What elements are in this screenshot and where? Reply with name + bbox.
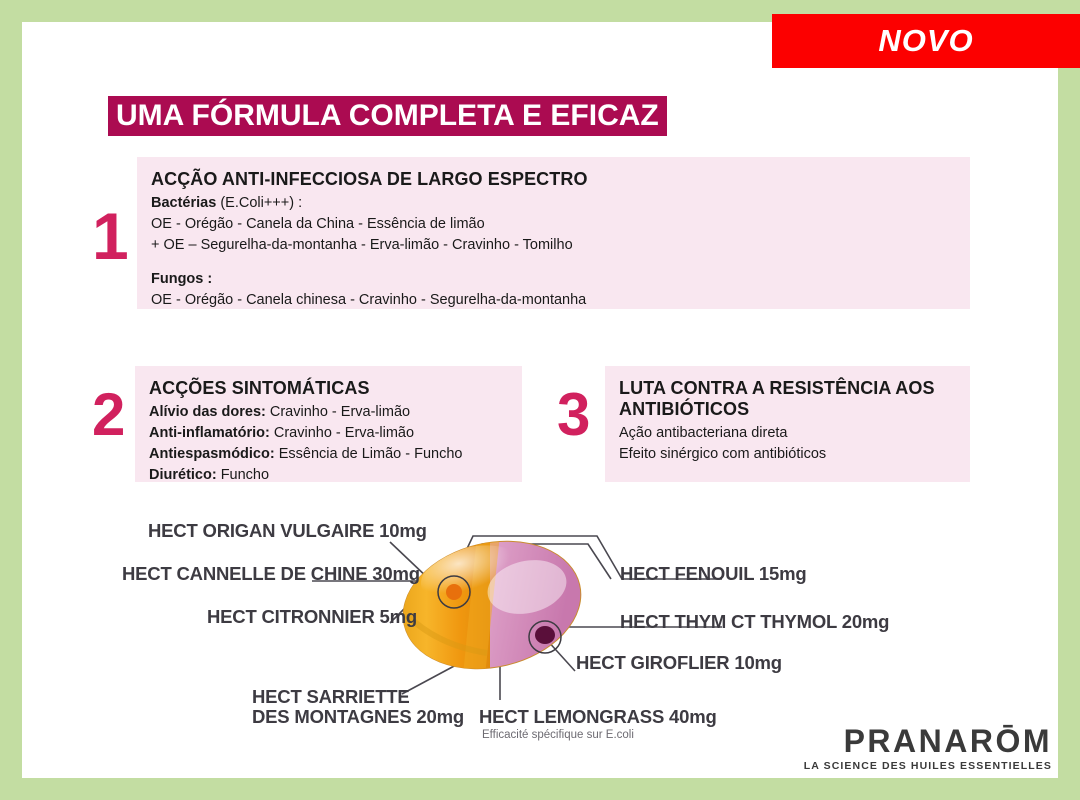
callout-dot-orange bbox=[446, 584, 462, 600]
line-text: (E.Coli+++) : bbox=[216, 195, 302, 211]
page-title-band: UMA FÓRMULA COMPLETA E EFICAZ bbox=[108, 96, 667, 136]
content-block-1: ACÇÃO ANTI-INFECCIOSA DE LARGO ESPECTRO … bbox=[137, 157, 970, 309]
line-bold: Fungos : bbox=[151, 271, 212, 287]
block-2-line: Alívio das dores: Cravinho - Erva-limão bbox=[149, 402, 522, 423]
block-number-2: 2 bbox=[92, 385, 125, 445]
block-2-line: Antiespasmódico: Essência de Limão - Fun… bbox=[149, 444, 522, 465]
content-block-2: ACÇÕES SINTOMÁTICAS Alívio das dores: Cr… bbox=[135, 366, 522, 482]
diagram-label-fenouil: HECT FENOUIL 15mg bbox=[620, 563, 806, 584]
block-2-line: Anti-inflamatório: Cravinho - Erva-limão bbox=[149, 423, 522, 444]
callout-dot-pink bbox=[535, 626, 555, 644]
line-text: Essência de Limão - Funcho bbox=[275, 446, 463, 462]
softgel-capsule bbox=[390, 524, 593, 685]
line-text: Cravinho - Erva-limão bbox=[270, 425, 414, 441]
block-number-3: 3 bbox=[557, 385, 590, 445]
diagram-label-origan: HECT ORIGAN VULGAIRE 10mg bbox=[148, 520, 427, 541]
block-1-line: Bactérias (E.Coli+++) : bbox=[151, 193, 970, 214]
block-number-1: 1 bbox=[92, 203, 129, 269]
block-3-heading: LUTA CONTRA A RESISTÊNCIA AOS ANTIBIÓTIC… bbox=[619, 378, 964, 420]
line-bold: Diurético: bbox=[149, 467, 217, 483]
block-1-spacer bbox=[151, 256, 970, 269]
line-text: OE - Orégão - Canela chinesa - Cravinho … bbox=[151, 292, 586, 308]
line-bold: Anti-inflamatório: bbox=[149, 425, 270, 441]
novo-badge: NOVO bbox=[772, 14, 1080, 68]
page-title: UMA FÓRMULA COMPLETA E EFICAZ bbox=[116, 99, 659, 133]
novo-label: NOVO bbox=[878, 23, 973, 59]
brand-tagline: LA SCIENCE DES HUILES ESSENTIELLES bbox=[804, 760, 1052, 772]
line-text: Efeito sinérgico com antibióticos bbox=[619, 446, 826, 462]
line-bold: Bactérias bbox=[151, 195, 216, 211]
diagram-label-cannelle: HECT CANNELLE DE CHINE 30mg bbox=[122, 563, 420, 584]
pranarom-logo: PRANARŌM LA SCIENCE DES HUILES ESSENTIEL… bbox=[804, 725, 1052, 772]
block-2-heading: ACÇÕES SINTOMÁTICAS bbox=[149, 378, 522, 399]
line-bold: Alívio das dores: bbox=[149, 404, 266, 420]
block-1-line: OE - Orégão - Canela da China - Essência… bbox=[151, 214, 970, 235]
line-text: Cravinho - Erva-limão bbox=[266, 404, 410, 420]
block-1-line: Fungos : bbox=[151, 269, 970, 290]
line-text: Ação antibacteriana direta bbox=[619, 425, 787, 441]
diagram-label-giroflier: HECT GIROFLIER 10mg bbox=[576, 652, 782, 673]
diagram-label-sarriette-line2: DES MONTAGNES 20mg bbox=[252, 706, 464, 727]
block-3-line: Ação antibacteriana direta bbox=[619, 423, 970, 444]
block-1-line: OE - Orégão - Canela chinesa - Cravinho … bbox=[151, 290, 970, 311]
diagram-label-thym: HECT THYM CT THYMOL 20mg bbox=[620, 611, 889, 632]
block-3-line: Efeito sinérgico com antibióticos bbox=[619, 444, 970, 465]
brand-text: PRANARŌM bbox=[844, 723, 1052, 759]
diagram-label-lemongrass: HECT LEMONGRASS 40mg bbox=[479, 706, 717, 727]
brand-name: PRANARŌM bbox=[844, 725, 1052, 757]
block-2-line: Diurético: Funcho bbox=[149, 465, 522, 486]
diagram-label-citronnier: HECT CITRONNIER 5mg bbox=[207, 606, 417, 627]
diagram-label-lemongrass-note: Efficacité spécifique sur E.coli bbox=[482, 729, 634, 741]
content-block-3: LUTA CONTRA A RESISTÊNCIA AOS ANTIBIÓTIC… bbox=[605, 366, 970, 482]
line-text: + OE – Segurelha-da-montanha - Erva-limã… bbox=[151, 237, 573, 253]
line-text: Funcho bbox=[217, 467, 269, 483]
line-bold: Antiespasmódico: bbox=[149, 446, 275, 462]
diagram-label-sarriette-line1: HECT SARRIETTE bbox=[252, 686, 410, 707]
block-1-heading: ACÇÃO ANTI-INFECCIOSA DE LARGO ESPECTRO bbox=[151, 169, 970, 190]
block-1-line: + OE – Segurelha-da-montanha - Erva-limã… bbox=[151, 235, 970, 256]
capsule-composition-diagram: HECT ORIGAN VULGAIRE 10mg HECT CANNELLE … bbox=[22, 495, 1058, 755]
line-text: OE - Orégão - Canela da China - Essência… bbox=[151, 216, 485, 232]
